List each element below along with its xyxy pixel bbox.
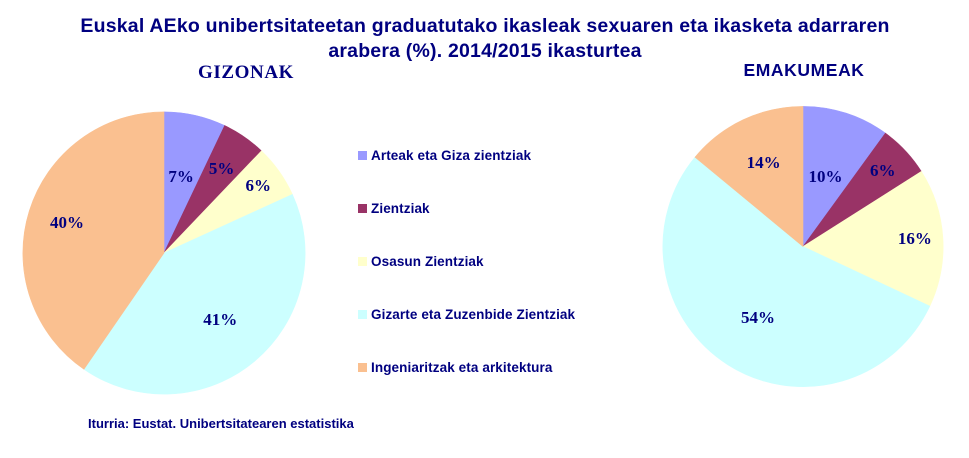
legend-item[interactable]: Osasun Zientziak (358, 251, 628, 271)
legend-swatch-icon (358, 151, 367, 160)
panel-heading-men: GIZONAK (126, 62, 366, 84)
legend-item[interactable]: Zientziak (358, 198, 628, 218)
chart-legend: Arteak eta Giza zientziakZientziakOsasun… (358, 145, 628, 377)
pie-men-svg (22, 111, 306, 395)
legend-item-label: Arteak eta Giza zientziak (371, 148, 531, 163)
legend-item-label: Osasun Zientziak (371, 254, 484, 269)
legend-swatch-icon (358, 204, 367, 213)
chart-title: Euskal AEko unibertsitateetan graduatuta… (60, 14, 910, 64)
pie-chart-women: 10%6%16%54%14% (662, 105, 944, 388)
panel-heading-women: EMAKUMEAK (706, 60, 902, 81)
chart-title-line-1: Euskal AEko unibertsitateetan graduatuta… (60, 14, 910, 39)
pie-chart-figure: Euskal AEko unibertsitateetan graduatuta… (0, 0, 969, 458)
legend-swatch-icon (358, 310, 367, 319)
legend-item-label: Zientziak (371, 201, 430, 216)
legend-item[interactable]: Ingeniaritzak eta arkitektura (358, 357, 628, 377)
legend-item[interactable]: Arteak eta Giza zientziak (358, 145, 628, 165)
pie-women-svg (662, 105, 944, 388)
legend-item-label: Gizarte eta Zuzenbide Zientziak (371, 307, 575, 322)
pie-chart-men: 7%5%6%41%40% (22, 111, 306, 395)
legend-swatch-icon (358, 257, 367, 266)
source-note: Iturria: Eustat. Unibertsitatearen estat… (88, 416, 354, 431)
legend-swatch-icon (358, 363, 367, 372)
legend-item[interactable]: Gizarte eta Zuzenbide Zientziak (358, 304, 628, 324)
legend-item-label: Ingeniaritzak eta arkitektura (371, 360, 552, 375)
